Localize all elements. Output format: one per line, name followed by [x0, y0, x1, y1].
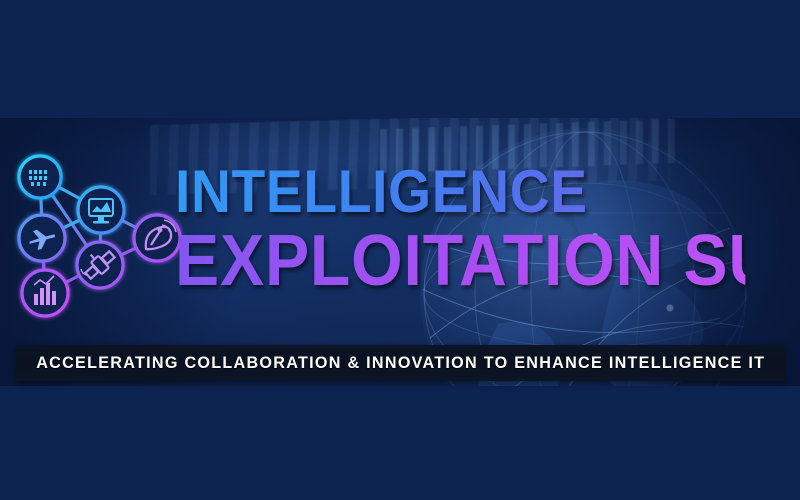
bar-chart-icon: [22, 270, 68, 316]
satellite-icon: [77, 242, 123, 288]
intelligence-network-graphic: [10, 145, 190, 325]
title-block: INTELLIGENCE EXPLOITATION SUMMIT: [175, 163, 795, 296]
summit-banner: INTELLIGENCE EXPLOITATION SUMMIT ACCELER…: [0, 0, 800, 500]
event-title-line-2: EXPLOITATION SUMMIT: [175, 227, 745, 296]
monitor-chart-icon: [78, 187, 124, 233]
event-title-line-1: INTELLIGENCE: [175, 163, 745, 221]
aircraft-icon: [19, 215, 65, 261]
tagline-bar: ACCELERATING COLLABORATION & INNOVATION …: [16, 345, 785, 381]
tagline-text: ACCELERATING COLLABORATION & INNOVATION …: [36, 353, 765, 373]
binary-code-icon: [19, 156, 61, 198]
satellite-dish-icon: [134, 215, 180, 261]
